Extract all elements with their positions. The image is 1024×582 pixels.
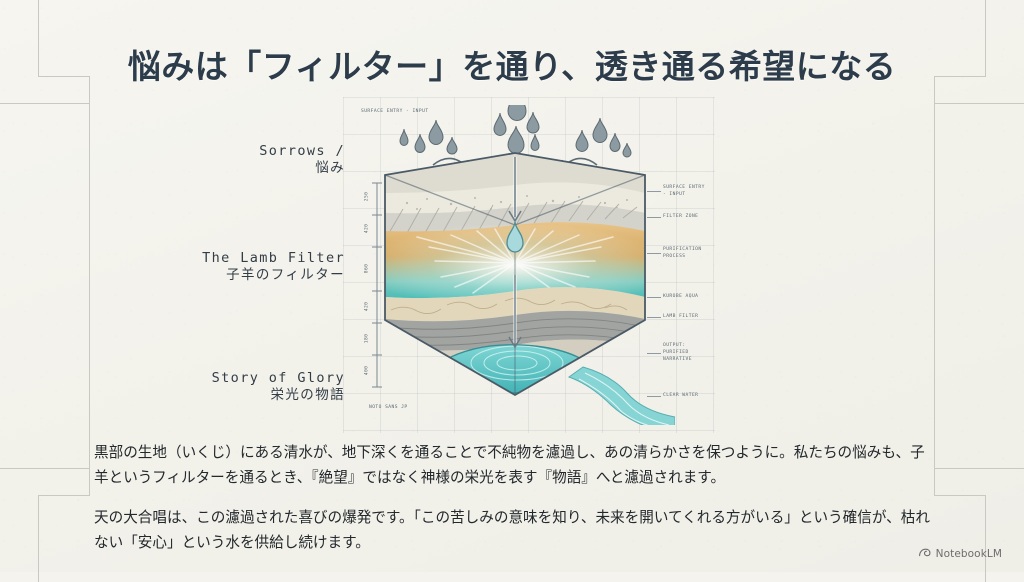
leader-line-0 [647, 191, 661, 192]
leader-line-1 [647, 217, 661, 218]
scale-tick-4: 180 [364, 334, 371, 344]
sorrow-droplets [400, 105, 631, 157]
leader-line-4 [647, 317, 661, 318]
annotation-lamb-filter: LAMB FILTER [663, 314, 698, 321]
leader-line-2 [647, 253, 661, 254]
kurobe-filter-diagram: SURFACE ENTRY - INPUT NOTO SANS JP [355, 105, 675, 425]
callout-lamb-filter-jp: 子羊のフィルター [120, 267, 345, 284]
notebooklm-logo-icon [918, 547, 931, 560]
annotation-clear-water: CLEAR WATER [663, 393, 698, 400]
callout-lamb-filter-en: The Lamb Filter [120, 250, 345, 267]
callout-lamb-filter: The Lamb Filter 子羊のフィルター [120, 250, 345, 284]
scale-ruler [372, 183, 382, 387]
annotation-output-purified-narrative: OUTPUT: PURIFIED NARRATIVE [663, 343, 692, 364]
callout-sorrows-jp: 悩み [150, 160, 345, 177]
body-paragraph-2: 天の大合唱は、この濾過された喜びの爆発です。「この苦しみの意味を知り、未来を開い… [94, 505, 932, 555]
callout-story-of-glory: Story of Glory 栄光の物語 [120, 370, 345, 404]
body-paragraph-1: 黒部の生地（いくじ）にある清水が、地下深くを通ることで不純物を濾過し、あの清らか… [94, 440, 932, 490]
notebooklm-watermark: NotebookLM [918, 547, 1002, 560]
callout-sorrows: Sorrows / 悩み [150, 143, 345, 177]
body-copy: 黒部の生地（いくじ）にある清水が、地下深くを通ることで不純物を濾過し、あの清らか… [94, 440, 932, 555]
leader-line-5 [647, 353, 661, 354]
callout-story-of-glory-jp: 栄光の物語 [120, 387, 345, 404]
annotation-surface-entry: SURFACE ENTRY - INPUT [663, 185, 705, 199]
scale-tick-0: 250 [364, 192, 371, 202]
cross-section-illustration [355, 105, 675, 425]
scale-tick-2: 860 [364, 264, 371, 274]
scale-tick-5: 400 [364, 366, 371, 376]
leader-line-3 [647, 297, 661, 298]
callout-sorrows-en: Sorrows / [150, 143, 345, 160]
leader-line-6 [647, 396, 661, 397]
scale-tick-3: 420 [364, 302, 371, 312]
callout-story-of-glory-en: Story of Glory [120, 370, 345, 387]
annotation-purification-process: PURIFICATION PROCESS [663, 247, 702, 261]
annotation-kurobe-aqua: KUROBE AQUA [663, 294, 698, 301]
scale-tick-1: 420 [364, 224, 371, 234]
page-title: 悩みは「フィルター」を通り、透き通る希望になる [0, 40, 1024, 88]
annotation-filter-zone: FILTER ZONE [663, 214, 698, 221]
watermark-label: NotebookLM [936, 548, 1002, 560]
